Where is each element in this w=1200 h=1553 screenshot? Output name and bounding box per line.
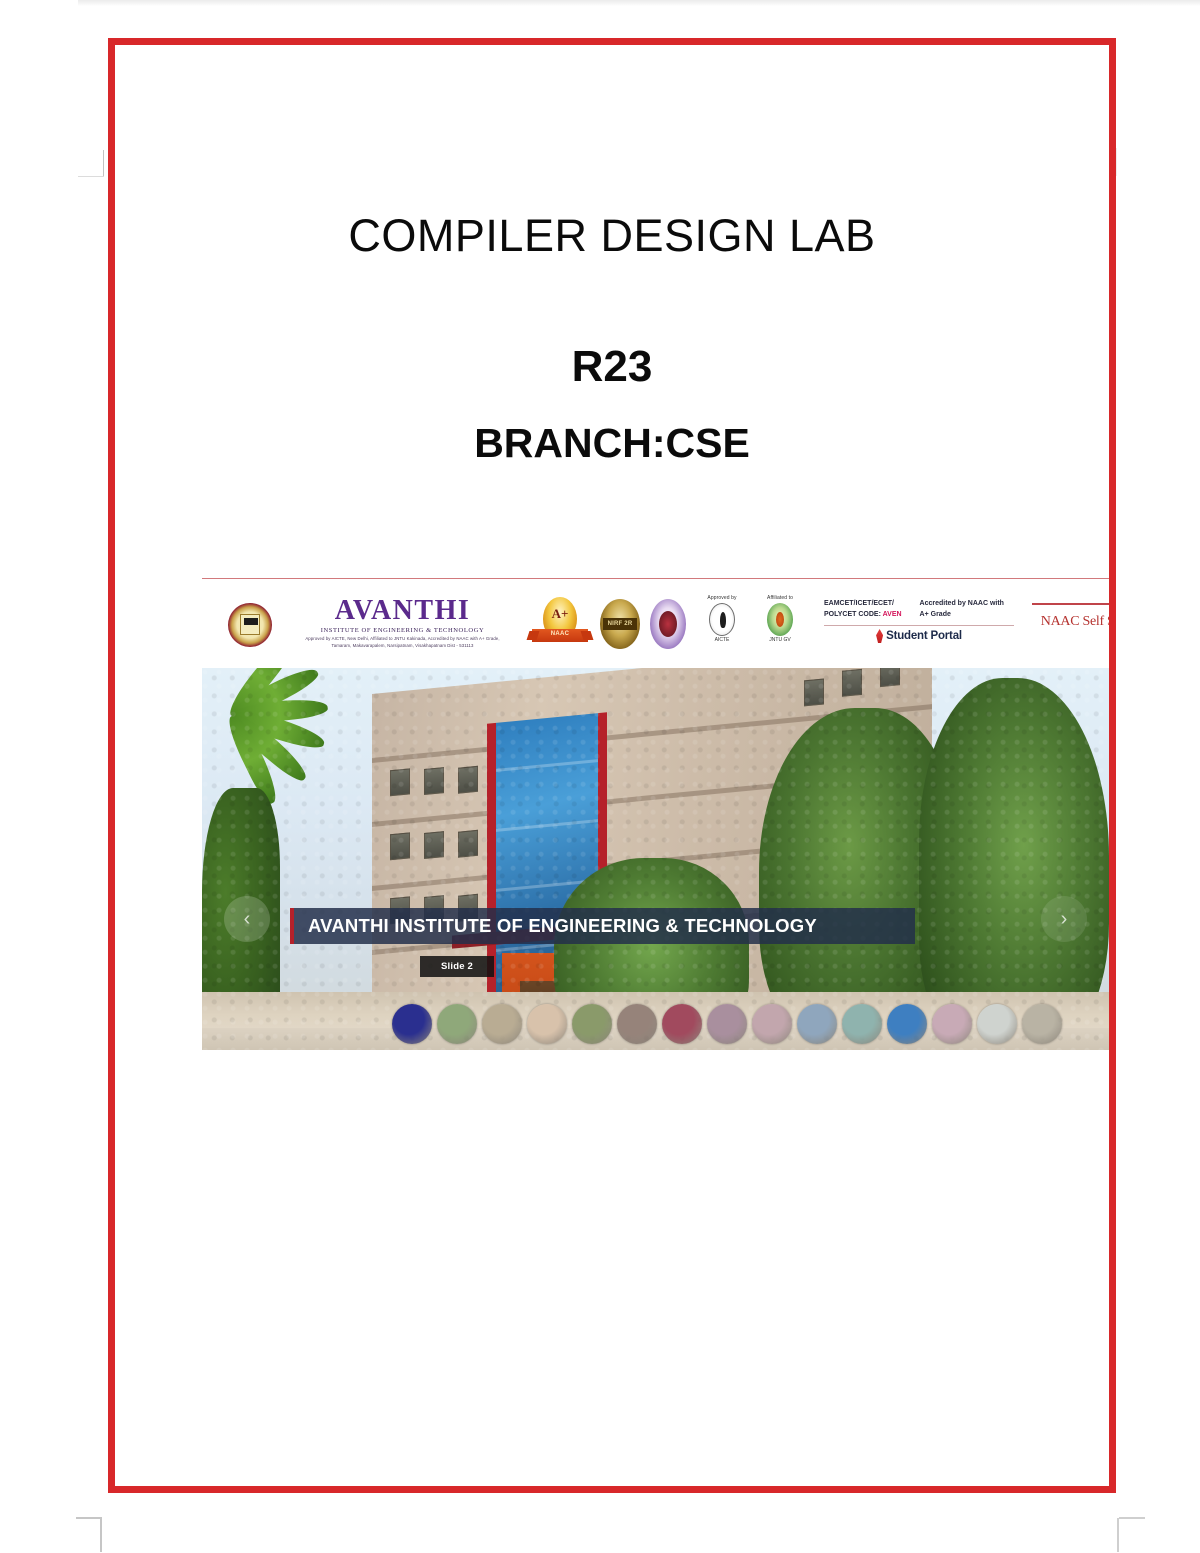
nirf-seal-label: NIRF 2R	[603, 618, 637, 630]
site-header: AVANTHI INSTITUTE OF ENGINEERING & TECHN…	[202, 578, 1109, 668]
crop-mark-bottom-right-h	[1119, 1517, 1145, 1519]
thumb-speaker[interactable]	[887, 1004, 927, 1044]
thumb-building[interactable]	[977, 1004, 1017, 1044]
thumb-maroon[interactable]	[662, 1004, 702, 1044]
crop-mark-left-top-h	[78, 176, 104, 177]
thumb-event[interactable]	[482, 1004, 522, 1044]
crop-mark-left-top	[103, 150, 104, 176]
accreditation-line1: Accredited by NAAC with	[920, 599, 1004, 610]
site-brand[interactable]: AVANTHI INSTITUTE OF ENGINEERING & TECHN…	[295, 597, 510, 649]
carousel-caption: AVANTHI INSTITUTE OF ENGINEERING & TECHN…	[290, 908, 915, 944]
next-arrow-glyph: ›	[1061, 908, 1068, 931]
nirf-seal-icon: NIRF 2R	[600, 599, 640, 649]
regulation-label: R23	[115, 342, 1109, 392]
page-border-frame: COMPILER DESIGN LAB R23 BRANCH:CSE AVANT…	[108, 38, 1116, 1493]
student-portal-link[interactable]: Student Portal	[824, 629, 1014, 643]
naac-grade-badge-icon: A+ NAAC	[532, 597, 588, 653]
brand-name: AVANTHI	[295, 597, 510, 625]
polycet-code-label: POLYCET CODE:	[824, 611, 881, 618]
crop-mark-bottom-right-v	[1117, 1518, 1119, 1552]
crop-mark-bottom-left-v	[100, 1518, 102, 1552]
header-divider	[824, 625, 1014, 626]
thumb-logo-blue[interactable]	[392, 1004, 432, 1044]
slide-tooltip: Slide 2	[420, 956, 494, 977]
naac-badge-label: NAAC	[532, 631, 588, 637]
website-screenshot: AVANTHI INSTITUTE OF ENGINEERING & TECHN…	[202, 578, 1109, 1050]
thumb-campus[interactable]	[1022, 1004, 1062, 1044]
aicte-logo: Approved by AICTE	[696, 595, 748, 643]
slide-tooltip-text: Slide 2	[441, 961, 473, 972]
jntu-logo: Affiliated to JNTU GV	[754, 595, 806, 643]
accreditation-text: Accredited by NAAC with A+ Grade	[920, 599, 1004, 620]
aicte-name: AICTE	[696, 637, 748, 643]
thumb-garden[interactable]	[437, 1004, 477, 1044]
page-title: COMPILER DESIGN LAB	[115, 210, 1109, 262]
naac-self-study-link[interactable]: NAAC Self Study	[1032, 603, 1109, 630]
flame-icon	[876, 629, 883, 643]
thumb-hall[interactable]	[797, 1004, 837, 1044]
brand-address: Approved by AICTE, New Delhi, Affiliated…	[295, 636, 510, 649]
thumb-group[interactable]	[617, 1004, 657, 1044]
naac-self-study-label: NAAC Self Study	[1032, 614, 1109, 630]
page-content-area: COMPILER DESIGN LAB R23 BRANCH:CSE AVANT…	[115, 45, 1109, 1486]
student-portal-label: Student Portal	[886, 630, 962, 642]
prev-arrow-glyph: ‹	[244, 908, 251, 931]
branch-label: BRANCH:CSE	[115, 420, 1109, 467]
header-info-row: EAMCET/ICET/ECET/ POLYCET CODE: AVEN Acc…	[824, 599, 1014, 620]
aicte-emblem-icon	[709, 603, 735, 636]
carousel-prev-arrow-icon[interactable]: ‹	[224, 896, 270, 942]
jntu-emblem-icon	[767, 603, 793, 636]
entrance-codes-line2: POLYCET CODE: AVEN	[824, 610, 902, 621]
document-page: COMPILER DESIGN LAB R23 BRANCH:CSE AVANT…	[0, 0, 1200, 1553]
thumb-foliage[interactable]	[572, 1004, 612, 1044]
thumb-classroom[interactable]	[752, 1004, 792, 1044]
thumb-students[interactable]	[707, 1004, 747, 1044]
thumb-lab[interactable]	[842, 1004, 882, 1044]
university-seal-icon	[650, 599, 686, 649]
self-study-divider	[1032, 603, 1109, 605]
crop-mark-bottom-left-h	[76, 1517, 102, 1519]
accreditation-line2: A+ Grade	[920, 610, 1004, 621]
polycet-code-value: AVEN	[883, 611, 902, 618]
crop-mark-right-top	[1116, 148, 1117, 176]
brand-subtitle: INSTITUTE OF ENGINEERING & TECHNOLOGY	[295, 627, 510, 633]
header-info-column: EAMCET/ICET/ECET/ POLYCET CODE: AVEN Acc…	[824, 599, 1014, 643]
entrance-codes-line1: EAMCET/ICET/ECET/	[824, 599, 902, 610]
naac-grade-value: A+	[543, 606, 577, 622]
institution-emblem-icon	[228, 603, 272, 647]
page-top-edge-shadow	[78, 0, 1200, 6]
site-header-inner: AVANTHI INSTITUTE OF ENGINEERING & TECHN…	[202, 579, 1109, 668]
carousel-caption-text: AVANTHI INSTITUTE OF ENGINEERING & TECHN…	[294, 915, 817, 937]
title-block: COMPILER DESIGN LAB R23 BRANCH:CSE	[115, 210, 1109, 467]
thumb-portrait[interactable]	[527, 1004, 567, 1044]
campus-carousel-image: AVANTHI INSTITUTE OF ENGINEERING & TECHN…	[202, 668, 1109, 1050]
jntu-caption: Affiliated to	[754, 595, 806, 601]
carousel-next-arrow-icon[interactable]: ›	[1041, 896, 1087, 942]
thumb-ceremony[interactable]	[932, 1004, 972, 1044]
carousel-thumbnail-strip[interactable]	[392, 1002, 1104, 1046]
jntu-name: JNTU GV	[754, 637, 806, 643]
aicte-caption: Approved by	[696, 595, 748, 601]
entrance-exam-codes: EAMCET/ICET/ECET/ POLYCET CODE: AVEN	[824, 599, 902, 620]
